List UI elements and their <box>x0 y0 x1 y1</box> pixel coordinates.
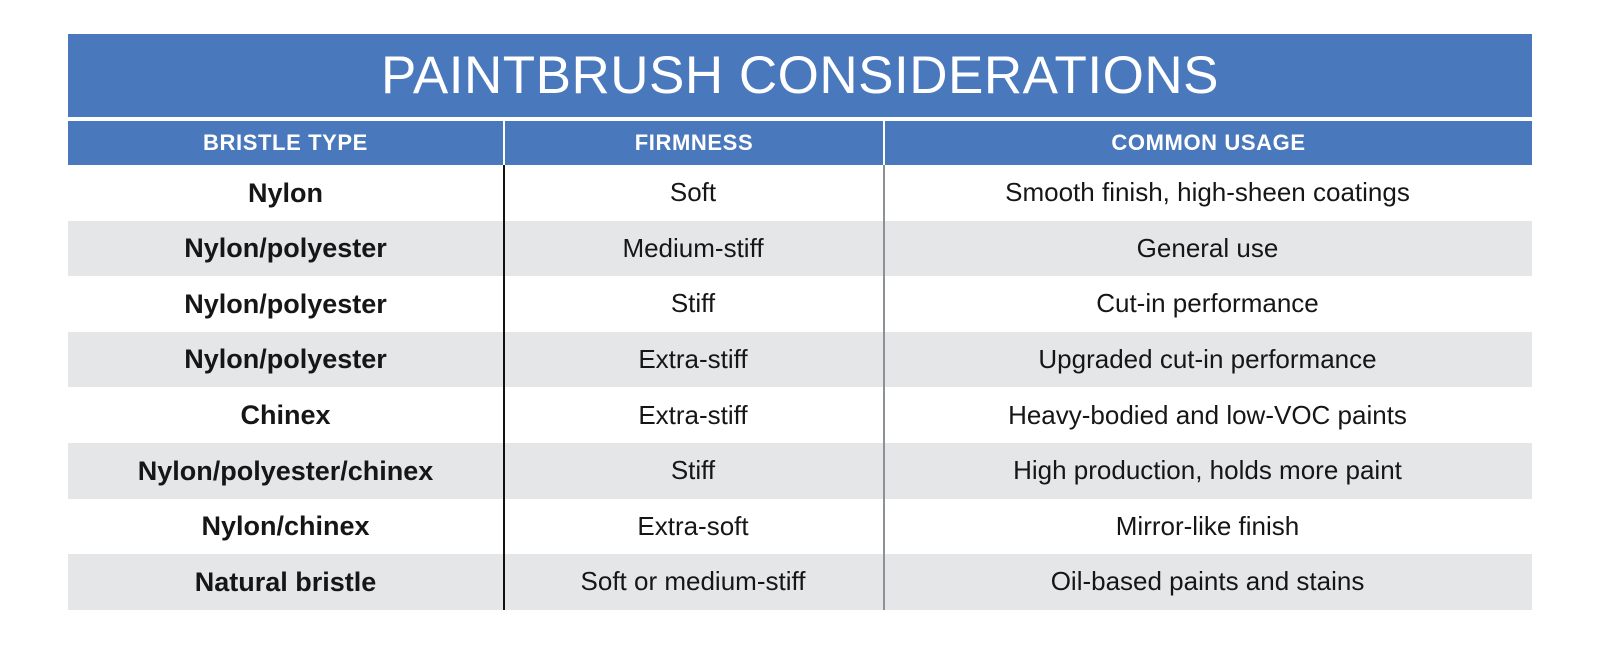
table-row: Natural bristle Soft or medium-stiff Oil… <box>68 554 1532 610</box>
cell-common-usage: Oil-based paints and stains <box>883 554 1532 610</box>
cell-bristle-type: Nylon <box>68 165 503 221</box>
column-header-common-usage: COMMON USAGE <box>883 121 1532 165</box>
cell-bristle-type: Natural bristle <box>68 554 503 610</box>
cell-firmness: Extra-stiff <box>503 332 883 388</box>
cell-firmness: Stiff <box>503 443 883 499</box>
table-title-bar: PAINTBRUSH CONSIDERATIONS <box>68 34 1532 117</box>
cell-bristle-type: Nylon/chinex <box>68 499 503 555</box>
table-body: Nylon Soft Smooth finish, high-sheen coa… <box>68 165 1532 610</box>
table-header-row: BRISTLE TYPE FIRMNESS COMMON USAGE <box>68 121 1532 165</box>
page-title: PAINTBRUSH CONSIDERATIONS <box>381 49 1219 102</box>
cell-firmness: Extra-stiff <box>503 387 883 443</box>
cell-common-usage: High production, holds more paint <box>883 443 1532 499</box>
cell-firmness: Stiff <box>503 276 883 332</box>
cell-common-usage: Heavy-bodied and low-VOC paints <box>883 387 1532 443</box>
cell-common-usage: General use <box>883 221 1532 277</box>
column-header-firmness: FIRMNESS <box>503 121 883 165</box>
column-header-bristle-type: BRISTLE TYPE <box>68 121 503 165</box>
cell-common-usage: Smooth finish, high-sheen coatings <box>883 165 1532 221</box>
cell-firmness: Soft or medium-stiff <box>503 554 883 610</box>
table-row: Nylon Soft Smooth finish, high-sheen coa… <box>68 165 1532 221</box>
paintbrush-considerations-table: PAINTBRUSH CONSIDERATIONS BRISTLE TYPE F… <box>68 34 1532 610</box>
cell-common-usage: Cut-in performance <box>883 276 1532 332</box>
column-divider-1 <box>503 165 505 610</box>
column-divider-2 <box>883 165 885 610</box>
cell-common-usage: Mirror-like finish <box>883 499 1532 555</box>
cell-bristle-type: Nylon/polyester/chinex <box>68 443 503 499</box>
cell-firmness: Medium-stiff <box>503 221 883 277</box>
page-canvas: PAINTBRUSH CONSIDERATIONS BRISTLE TYPE F… <box>0 0 1600 661</box>
cell-bristle-type: Nylon/polyester <box>68 332 503 388</box>
table-row: Nylon/polyester Extra-stiff Upgraded cut… <box>68 332 1532 388</box>
cell-firmness: Soft <box>503 165 883 221</box>
table-row: Chinex Extra-stiff Heavy-bodied and low-… <box>68 387 1532 443</box>
table-row: Nylon/polyester Stiff Cut-in performance <box>68 276 1532 332</box>
cell-bristle-type: Nylon/polyester <box>68 221 503 277</box>
table-row: Nylon/polyester/chinex Stiff High produc… <box>68 443 1532 499</box>
table-row: Nylon/polyester Medium-stiff General use <box>68 221 1532 277</box>
cell-bristle-type: Chinex <box>68 387 503 443</box>
cell-common-usage: Upgraded cut-in performance <box>883 332 1532 388</box>
table-row: Nylon/chinex Extra-soft Mirror-like fini… <box>68 499 1532 555</box>
cell-firmness: Extra-soft <box>503 499 883 555</box>
cell-bristle-type: Nylon/polyester <box>68 276 503 332</box>
